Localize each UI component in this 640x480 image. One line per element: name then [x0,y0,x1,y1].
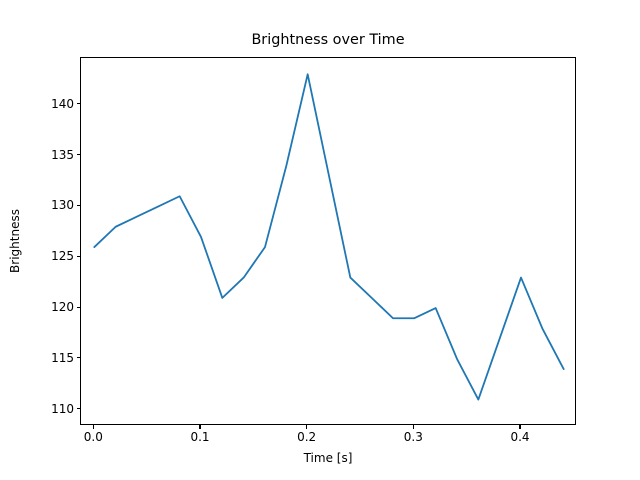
brightness-line-series [94,74,563,399]
x-axis-label: Time [s] [80,451,576,465]
matplotlib-figure: Brightness over Time Brightness 11011512… [0,0,640,480]
plot-area [80,57,576,425]
data-series-svg [81,58,577,426]
